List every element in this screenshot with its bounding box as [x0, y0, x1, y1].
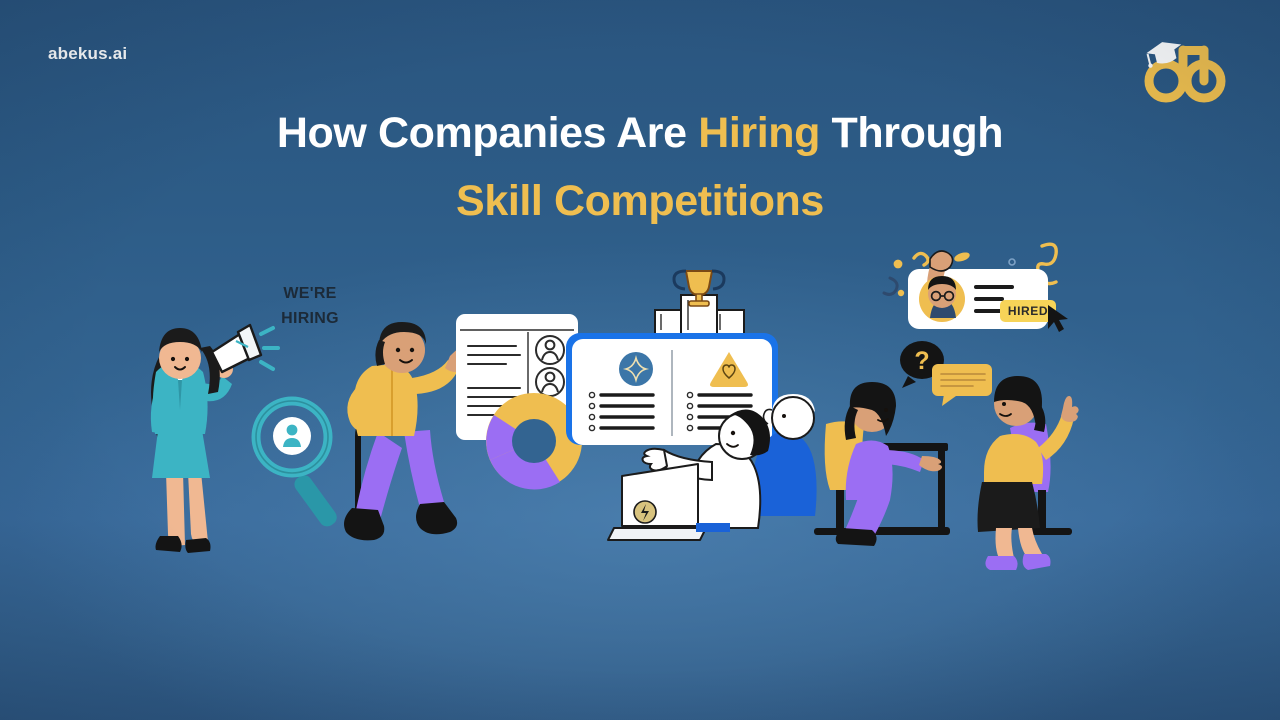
- hired-card: HIRED: [884, 244, 1068, 332]
- were-hiring-sign: WE'RE HIRING: [262, 282, 358, 332]
- speech-bubble-icon: [932, 364, 992, 406]
- were-hiring-line-1: WE'RE: [262, 282, 358, 307]
- question-mark-glyph: ?: [914, 347, 929, 375]
- banner-canvas: abekus.ai How Companies Are Hiring Throu…: [0, 0, 1280, 720]
- sound-wave-icon: [261, 328, 278, 369]
- were-hiring-line-2: HIRING: [262, 307, 358, 332]
- megaphone-icon: [212, 325, 261, 372]
- interviewer-figure: [836, 382, 942, 546]
- presenter-figure: [344, 322, 471, 540]
- sparkle-icon: [619, 352, 653, 386]
- magnifier-person-icon: [256, 401, 340, 530]
- illustration-scene: ?: [0, 0, 1280, 720]
- cursor-arrow-icon: [1048, 305, 1068, 332]
- hired-badge-label: HIRED: [1008, 304, 1048, 318]
- interviewee-figure: [978, 376, 1079, 570]
